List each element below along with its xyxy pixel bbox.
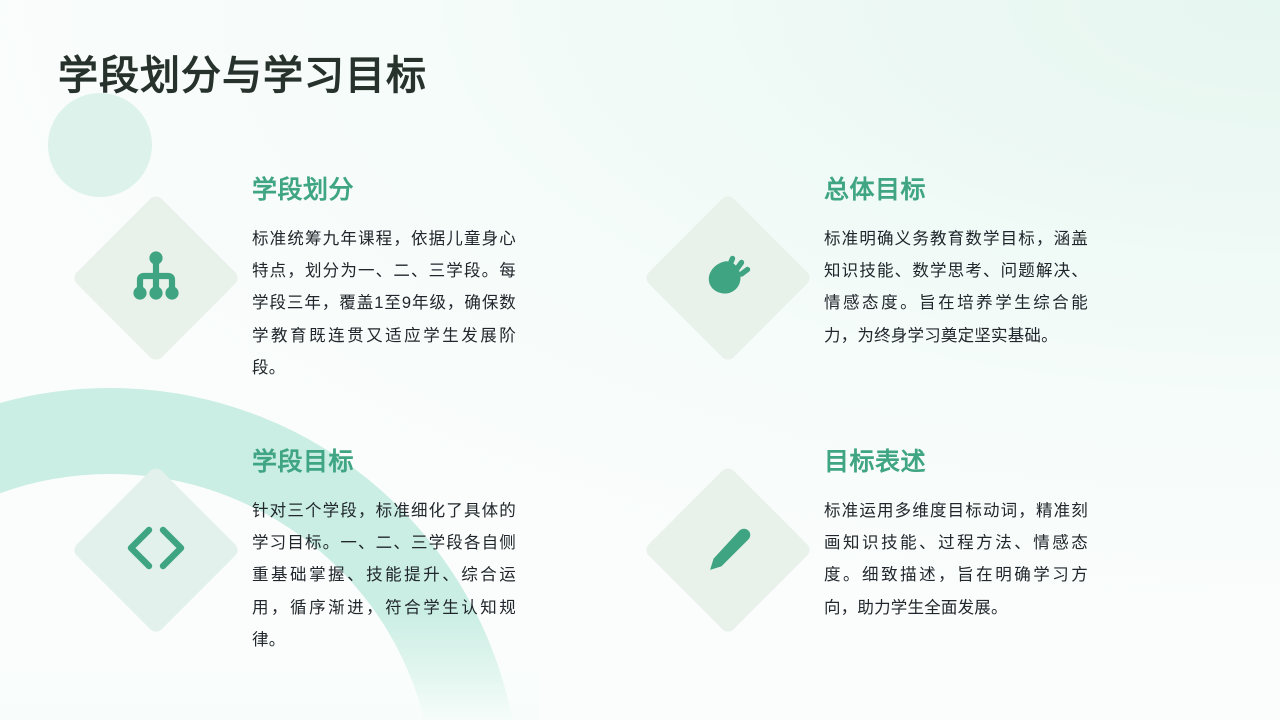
icon-plate-code: [96, 490, 216, 610]
icon-plate-hierarchy: [96, 218, 216, 338]
code-brackets-icon: [121, 522, 191, 579]
card-title: 总体目标: [824, 170, 1088, 206]
card-stage-objectives[interactable]: 学段目标 针对三个学段，标准细化了具体的学习目标。一、二、三学段各自侧重基础掌握…: [96, 432, 668, 704]
card-title: 目标表述: [824, 442, 1088, 478]
card-body: 标准统筹九年课程，依据儿童身心特点，划分为一、二、三学段。每学段三年，覆盖1至9…: [252, 223, 516, 384]
page-title: 学段划分与学习目标: [58, 52, 427, 100]
hierarchy-icon: [127, 247, 185, 310]
card-title: 学段目标: [252, 442, 516, 478]
card-learning-stage-division[interactable]: 学段划分 标准统筹九年课程，依据儿童身心特点，划分为一、二、三学段。每学段三年，…: [96, 160, 668, 432]
comet-icon: [699, 247, 757, 310]
card-body: 针对三个学段，标准细化了具体的学习目标。一、二、三学段各自侧重基础掌握、技能提升…: [252, 495, 516, 656]
slide-canvas: 学段划分与学习目标: [0, 0, 1280, 720]
icon-plate-pencil: [668, 490, 788, 610]
card-overall-goals[interactable]: 总体目标 标准明确义务教育数学目标，涵盖知识技能、数学思考、问题解决、情感态度。…: [668, 160, 1196, 432]
card-body: 标准运用多维度目标动词，精准刻画知识技能、过程方法、情感态度。细致描述，旨在明确…: [824, 495, 1088, 624]
card-objective-statements[interactable]: 目标表述 标准运用多维度目标动词，精准刻画知识技能、过程方法、情感态度。细致描述…: [668, 432, 1196, 704]
card-body: 标准明确义务教育数学目标，涵盖知识技能、数学思考、问题解决、情感态度。旨在培养学…: [824, 223, 1088, 352]
cards-grid: 学段划分 标准统筹九年课程，依据儿童身心特点，划分为一、二、三学段。每学段三年，…: [96, 160, 1196, 705]
card-title: 学段划分: [252, 170, 516, 206]
icon-plate-comet: [668, 218, 788, 338]
pencil-icon: [699, 519, 757, 582]
